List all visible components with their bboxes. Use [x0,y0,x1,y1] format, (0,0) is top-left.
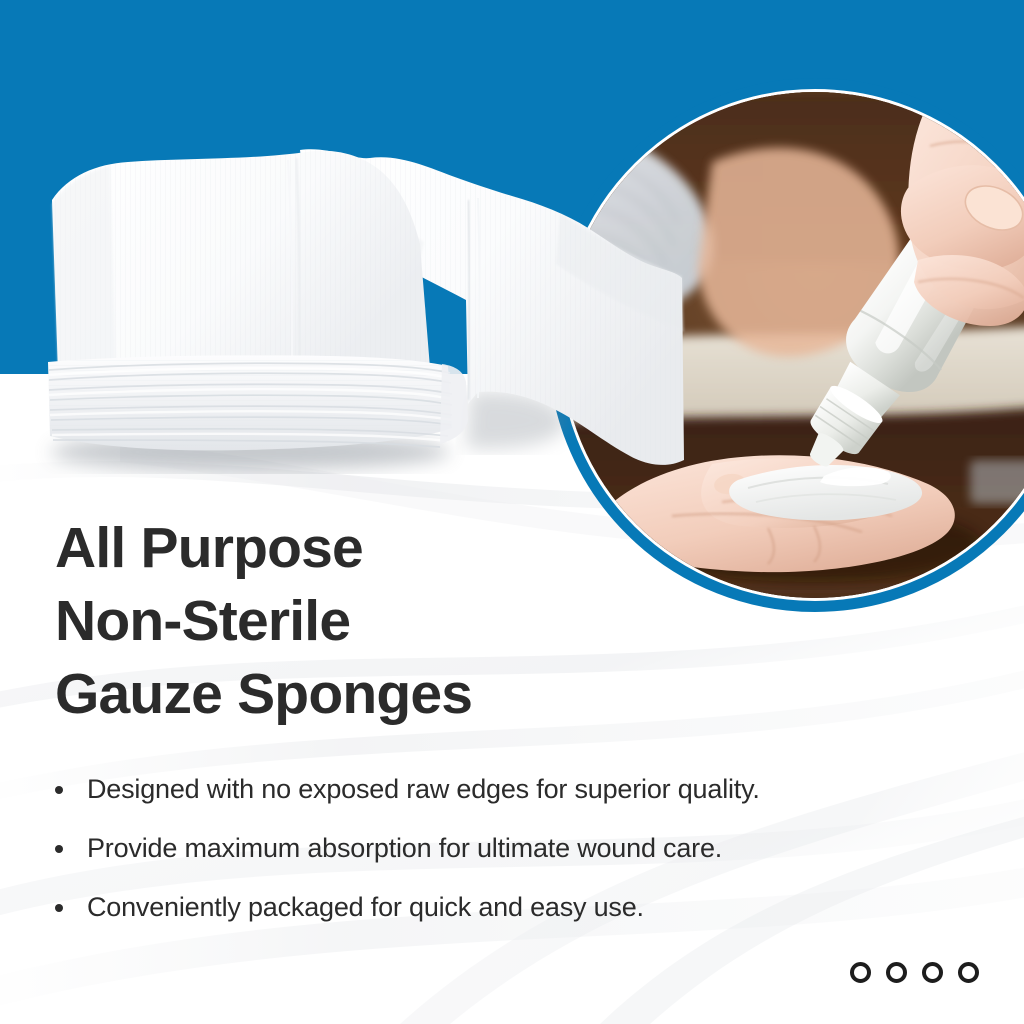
applying-ointment-photo [548,78,1024,612]
headline-line-1: All Purpose [55,512,472,585]
carousel-dot-4[interactable] [958,962,979,983]
list-item: Designed with no exposed raw edges for s… [55,772,985,806]
advertisement-canvas: All Purpose Non-Sterile Gauze Sponges De… [0,0,1024,1024]
list-item: Provide maximum absorption for ultimate … [55,831,985,865]
feature-bullet-list: Designed with no exposed raw edges for s… [55,772,985,949]
carousel-dot-2[interactable] [886,962,907,983]
bullet-dot-icon [55,845,63,853]
bullet-text: Conveniently packaged for quick and easy… [87,890,644,924]
photo-inner-clip [562,92,1024,598]
headline-line-3: Gauze Sponges [55,658,472,731]
bullet-text: Provide maximum absorption for ultimate … [87,831,722,865]
headline-line-2: Non-Sterile [55,585,472,658]
page-title: All Purpose Non-Sterile Gauze Sponges [55,512,472,731]
carousel-dots-indicator[interactable] [850,962,979,983]
ointment-scene-illustration [562,92,1024,598]
bullet-dot-icon [55,904,63,912]
carousel-dot-3[interactable] [922,962,943,983]
list-item: Conveniently packaged for quick and easy… [55,890,985,924]
carousel-dot-1[interactable] [850,962,871,983]
bullet-text: Designed with no exposed raw edges for s… [87,772,760,806]
upper-hand [901,92,1024,326]
bullet-dot-icon [55,786,63,794]
